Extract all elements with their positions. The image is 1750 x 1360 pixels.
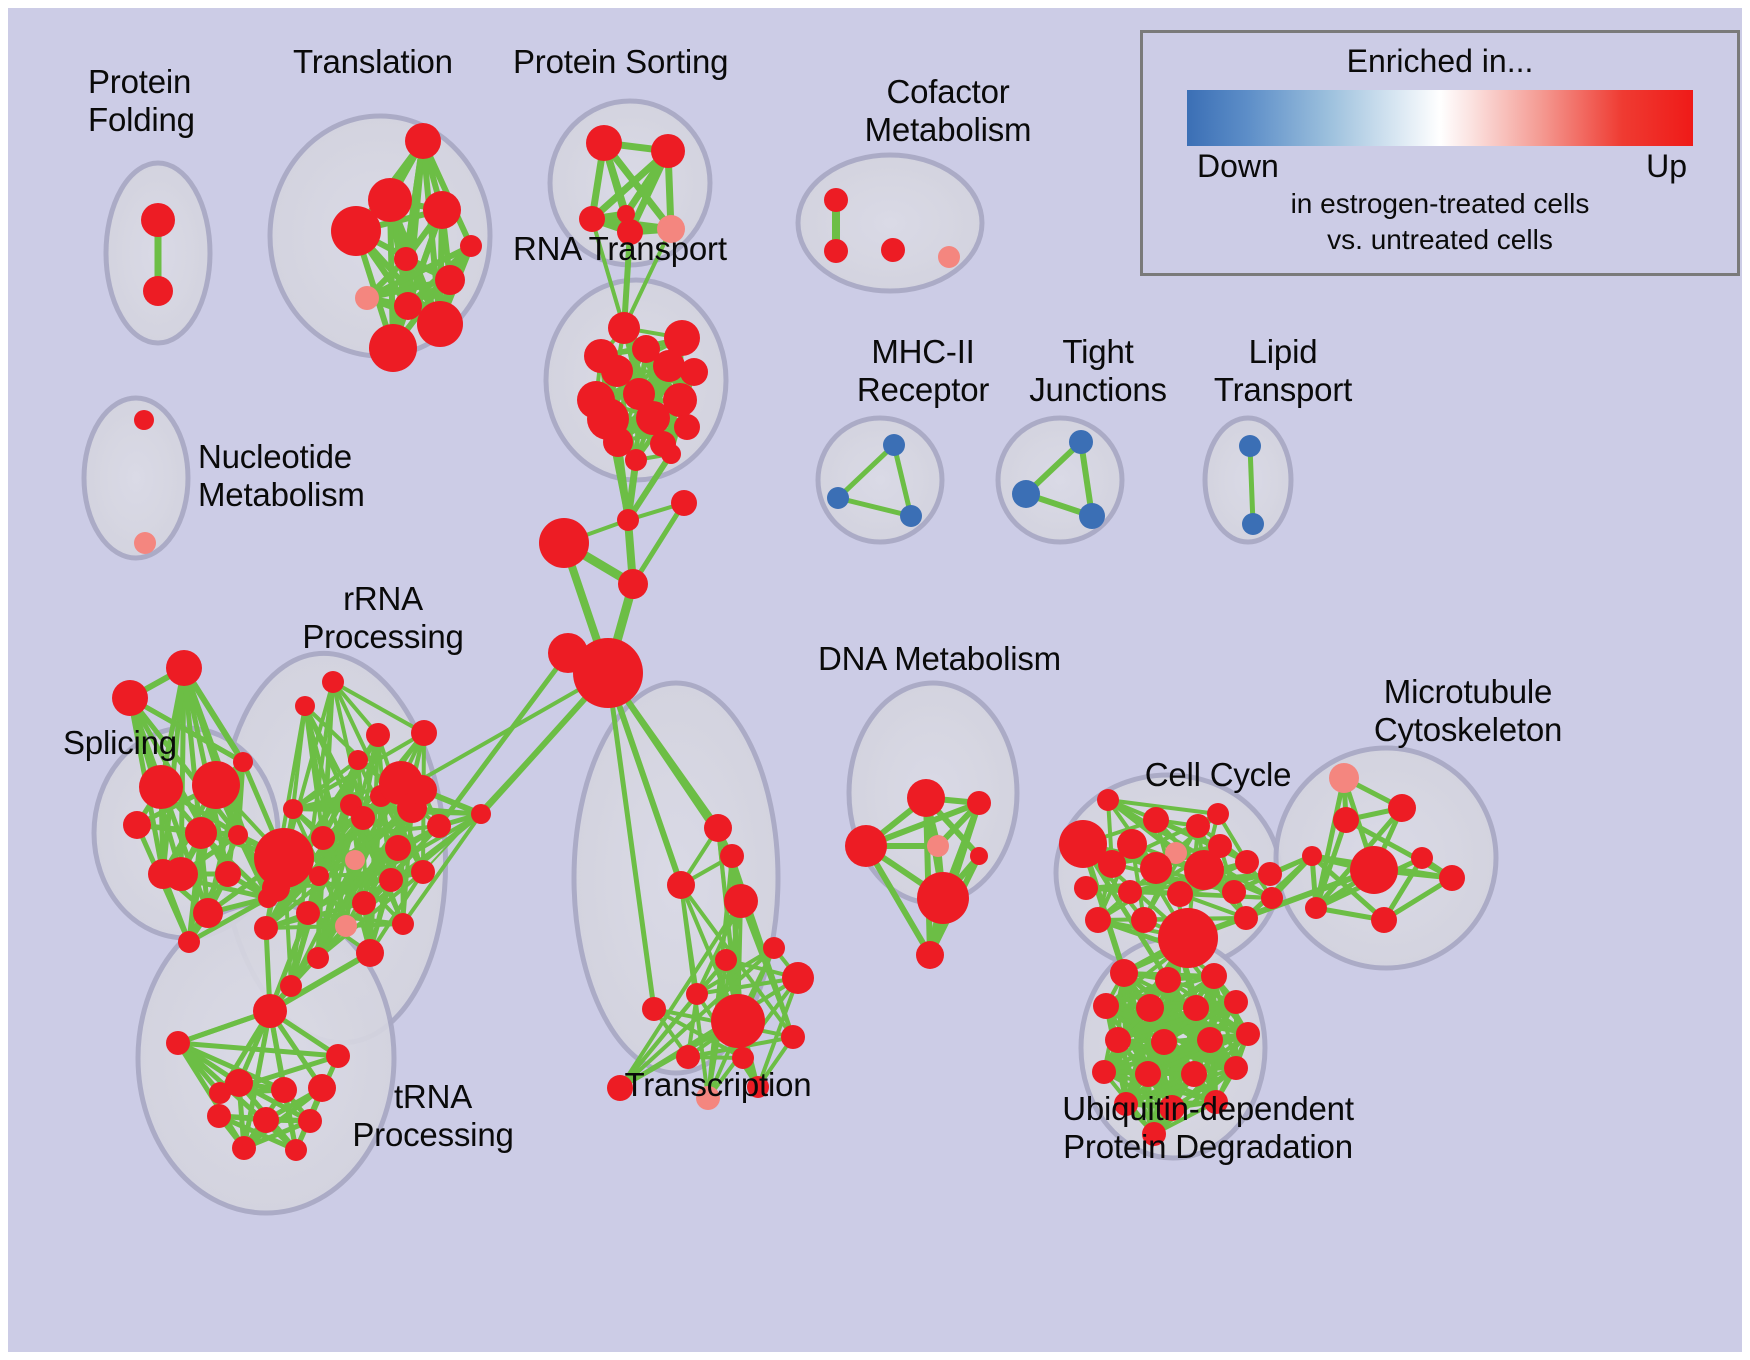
- graph-node[interactable]: [148, 859, 178, 889]
- graph-node[interactable]: [435, 265, 465, 295]
- graph-node[interactable]: [625, 449, 647, 471]
- graph-node[interactable]: [411, 860, 435, 884]
- graph-node[interactable]: [1197, 1027, 1223, 1053]
- graph-node[interactable]: [782, 962, 814, 994]
- graph-node[interactable]: [1098, 850, 1126, 878]
- graph-node[interactable]: [392, 913, 414, 935]
- graph-node[interactable]: [423, 191, 461, 229]
- cluster-ellipse-mhc-ii-receptor: [818, 418, 942, 542]
- graph-node[interactable]: [1224, 990, 1248, 1014]
- graph-node[interactable]: [407, 775, 437, 805]
- graph-node[interactable]: [232, 1136, 256, 1160]
- graph-node[interactable]: [296, 901, 320, 925]
- graph-node[interactable]: [1079, 503, 1105, 529]
- legend-box: Enriched in... Down Up in estrogen-treat…: [1140, 30, 1740, 276]
- graph-node[interactable]: [907, 779, 945, 817]
- graph-node[interactable]: [1224, 1056, 1248, 1080]
- graph-node[interactable]: [417, 301, 463, 347]
- graph-node[interactable]: [331, 206, 381, 256]
- graph-node[interactable]: [228, 825, 248, 845]
- graph-node[interactable]: [674, 414, 700, 440]
- cluster-label-rrna-processing: rRNA Processing: [258, 580, 508, 656]
- graph-node[interactable]: [1136, 994, 1164, 1022]
- graph-node[interactable]: [471, 804, 491, 824]
- graph-node[interactable]: [1236, 1022, 1260, 1046]
- graph-node[interactable]: [1151, 1029, 1177, 1055]
- graph-node[interactable]: [262, 874, 290, 902]
- graph-node[interactable]: [1222, 880, 1246, 904]
- graph-node[interactable]: [653, 350, 685, 382]
- graph-node[interactable]: [311, 826, 335, 850]
- graph-node[interactable]: [642, 997, 666, 1021]
- cluster-label-cofactor-metabolism: Cofactor Metabolism: [798, 73, 1098, 149]
- graph-node[interactable]: [253, 1107, 279, 1133]
- graph-node[interactable]: [970, 847, 988, 865]
- graph-node[interactable]: [927, 835, 949, 857]
- graph-node[interactable]: [824, 239, 848, 263]
- graph-node[interactable]: [335, 915, 357, 937]
- cluster-label-rna-transport: RNA Transport: [513, 230, 813, 268]
- graph-node[interactable]: [763, 937, 785, 959]
- graph-node[interactable]: [1140, 852, 1172, 884]
- cluster-label-protein-folding: Protein Folding: [88, 63, 308, 139]
- cluster-ellipse-cofactor-metabolism: [798, 155, 982, 291]
- graph-node[interactable]: [1131, 907, 1157, 933]
- graph-node[interactable]: [686, 983, 708, 1005]
- graph-node[interactable]: [667, 871, 695, 899]
- graph-node[interactable]: [636, 401, 670, 435]
- cluster-label-ubiquitin-degradation: Ubiquitin-dependent Protein Degradation: [993, 1090, 1423, 1166]
- graph-node[interactable]: [1184, 850, 1224, 890]
- graph-node[interactable]: [1135, 1061, 1161, 1087]
- graph-node[interactable]: [193, 898, 223, 928]
- graph-node[interactable]: [1167, 881, 1193, 907]
- graph-node[interactable]: [548, 633, 588, 673]
- graph-node[interactable]: [617, 509, 639, 531]
- graph-node[interactable]: [1333, 807, 1359, 833]
- graph-node[interactable]: [967, 791, 991, 815]
- graph-node[interactable]: [207, 1104, 231, 1128]
- network-plot-area: Protein FoldingTranslationProtein Sortin…: [8, 8, 1742, 1352]
- graph-node[interactable]: [900, 505, 922, 527]
- graph-node[interactable]: [1166, 934, 1194, 962]
- graph-node[interactable]: [356, 939, 384, 967]
- graph-node[interactable]: [1069, 430, 1093, 454]
- cluster-label-trna-processing: tRNA Processing: [308, 1078, 558, 1154]
- graph-node[interactable]: [178, 931, 200, 953]
- graph-node[interactable]: [1118, 880, 1142, 904]
- graph-node[interactable]: [1302, 846, 1322, 866]
- graph-node[interactable]: [345, 850, 365, 870]
- graph-node[interactable]: [579, 206, 605, 232]
- graph-node[interactable]: [608, 312, 640, 344]
- graph-node[interactable]: [1105, 1027, 1131, 1053]
- graph-node[interactable]: [1012, 480, 1040, 508]
- graph-node[interactable]: [285, 1139, 307, 1161]
- graph-node[interactable]: [355, 286, 379, 310]
- graph-node[interactable]: [1110, 959, 1138, 987]
- graph-node[interactable]: [209, 1082, 231, 1104]
- legend-right-end: Up: [1646, 148, 1687, 185]
- graph-node[interactable]: [1305, 897, 1327, 919]
- graph-node[interactable]: [394, 292, 422, 320]
- graph-node[interactable]: [283, 799, 303, 819]
- graph-node[interactable]: [379, 868, 403, 892]
- graph-node[interactable]: [295, 696, 315, 716]
- graph-node[interactable]: [827, 487, 849, 509]
- graph-node[interactable]: [405, 123, 441, 159]
- graph-node[interactable]: [134, 410, 154, 430]
- graph-node[interactable]: [369, 324, 417, 372]
- graph-node[interactable]: [280, 975, 302, 997]
- graph-node[interactable]: [1329, 763, 1359, 793]
- graph-node[interactable]: [322, 671, 344, 693]
- graph-node[interactable]: [141, 203, 175, 237]
- graph-node[interactable]: [1092, 1060, 1116, 1084]
- cluster-label-cell-cycle: Cell Cycle: [1103, 756, 1333, 794]
- graph-node[interactable]: [617, 205, 635, 223]
- graph-node[interactable]: [916, 941, 944, 969]
- graph-node[interactable]: [1388, 794, 1416, 822]
- graph-node[interactable]: [711, 994, 765, 1048]
- graph-node[interactable]: [618, 569, 648, 599]
- legend-left-end: Down: [1197, 148, 1279, 185]
- graph-node[interactable]: [781, 1025, 805, 1049]
- graph-node[interactable]: [1143, 807, 1169, 833]
- graph-node[interactable]: [1085, 907, 1111, 933]
- graph-node[interactable]: [253, 994, 287, 1028]
- graph-node[interactable]: [271, 1077, 297, 1103]
- legend-endpoints: Down Up: [1143, 146, 1737, 185]
- graph-node[interactable]: [326, 1044, 350, 1068]
- graph-node[interactable]: [352, 891, 376, 915]
- cluster-label-splicing: Splicing: [63, 724, 263, 762]
- graph-node[interactable]: [845, 825, 887, 867]
- legend-colorbar: [1187, 90, 1693, 146]
- graph-node[interactable]: [254, 916, 278, 940]
- graph-node[interactable]: [917, 872, 969, 924]
- graph-node[interactable]: [938, 246, 960, 268]
- legend-caption-line-1: in estrogen-treated cells: [1143, 187, 1737, 221]
- graph-node[interactable]: [671, 490, 697, 516]
- graph-node[interactable]: [1183, 995, 1209, 1021]
- graph-edge: [1250, 446, 1253, 524]
- legend-caption-line-2: vs. untreated cells: [1143, 223, 1737, 257]
- graph-node[interactable]: [366, 723, 390, 747]
- cluster-label-lipid-transport: Lipid Transport: [1173, 333, 1393, 409]
- graph-node[interactable]: [661, 444, 681, 464]
- figure-canvas: Protein FoldingTranslationProtein Sortin…: [0, 0, 1750, 1360]
- graph-node[interactable]: [411, 720, 437, 746]
- graph-node[interactable]: [185, 817, 217, 849]
- graph-node[interactable]: [1235, 850, 1259, 874]
- graph-node[interactable]: [1242, 513, 1264, 535]
- graph-node[interactable]: [307, 947, 329, 969]
- cluster-label-nucleotide-metabolism: Nucleotide Metabolism: [198, 438, 498, 514]
- legend-title: Enriched in...: [1143, 43, 1737, 80]
- graph-node[interactable]: [883, 434, 905, 456]
- graph-node[interactable]: [1093, 993, 1119, 1019]
- cluster-ellipse-tight-junctions: [998, 418, 1122, 542]
- graph-node[interactable]: [651, 134, 685, 168]
- graph-node[interactable]: [309, 866, 329, 886]
- graph-node[interactable]: [680, 358, 708, 386]
- graph-node[interactable]: [134, 532, 156, 554]
- graph-node[interactable]: [139, 765, 183, 809]
- graph-node[interactable]: [704, 814, 732, 842]
- cluster-label-transcription: Transcription: [573, 1066, 863, 1104]
- graph-node[interactable]: [112, 680, 148, 716]
- graph-node[interactable]: [1207, 803, 1229, 825]
- graph-node[interactable]: [351, 806, 375, 830]
- graph-node[interactable]: [586, 125, 622, 161]
- graph-node[interactable]: [166, 1031, 190, 1055]
- graph-node[interactable]: [1074, 876, 1098, 900]
- graph-node[interactable]: [539, 518, 589, 568]
- cluster-label-microtubule-cytoskeleton: Microtubule Cytoskeleton: [1303, 673, 1633, 749]
- graph-node[interactable]: [348, 750, 368, 770]
- graph-node[interactable]: [215, 861, 241, 887]
- cluster-label-protein-sorting: Protein Sorting: [513, 43, 813, 81]
- graph-node[interactable]: [1258, 862, 1282, 886]
- graph-node[interactable]: [1155, 967, 1181, 993]
- cluster-label-dna-metabolism: DNA Metabolism: [818, 640, 1138, 678]
- graph-node[interactable]: [143, 276, 173, 306]
- graph-node[interactable]: [1371, 907, 1397, 933]
- graph-node[interactable]: [192, 761, 240, 809]
- graph-node[interactable]: [1239, 435, 1261, 457]
- graph-node[interactable]: [715, 949, 737, 971]
- graph-node[interactable]: [881, 238, 905, 262]
- graph-node[interactable]: [1350, 846, 1398, 894]
- graph-node[interactable]: [1186, 814, 1210, 838]
- graph-node[interactable]: [824, 188, 848, 212]
- graph-node[interactable]: [394, 247, 418, 271]
- graph-node[interactable]: [720, 844, 744, 868]
- graph-node[interactable]: [166, 650, 202, 686]
- graph-node[interactable]: [1411, 847, 1433, 869]
- graph-node[interactable]: [1234, 906, 1258, 930]
- graph-node[interactable]: [123, 811, 151, 839]
- graph-node[interactable]: [1201, 963, 1227, 989]
- graph-node[interactable]: [1261, 887, 1283, 909]
- graph-edge: [266, 926, 346, 928]
- graph-node[interactable]: [385, 835, 411, 861]
- graph-node[interactable]: [1439, 865, 1465, 891]
- graph-node[interactable]: [427, 814, 451, 838]
- graph-node[interactable]: [460, 235, 482, 257]
- graph-node[interactable]: [724, 884, 758, 918]
- graph-node[interactable]: [1181, 1061, 1207, 1087]
